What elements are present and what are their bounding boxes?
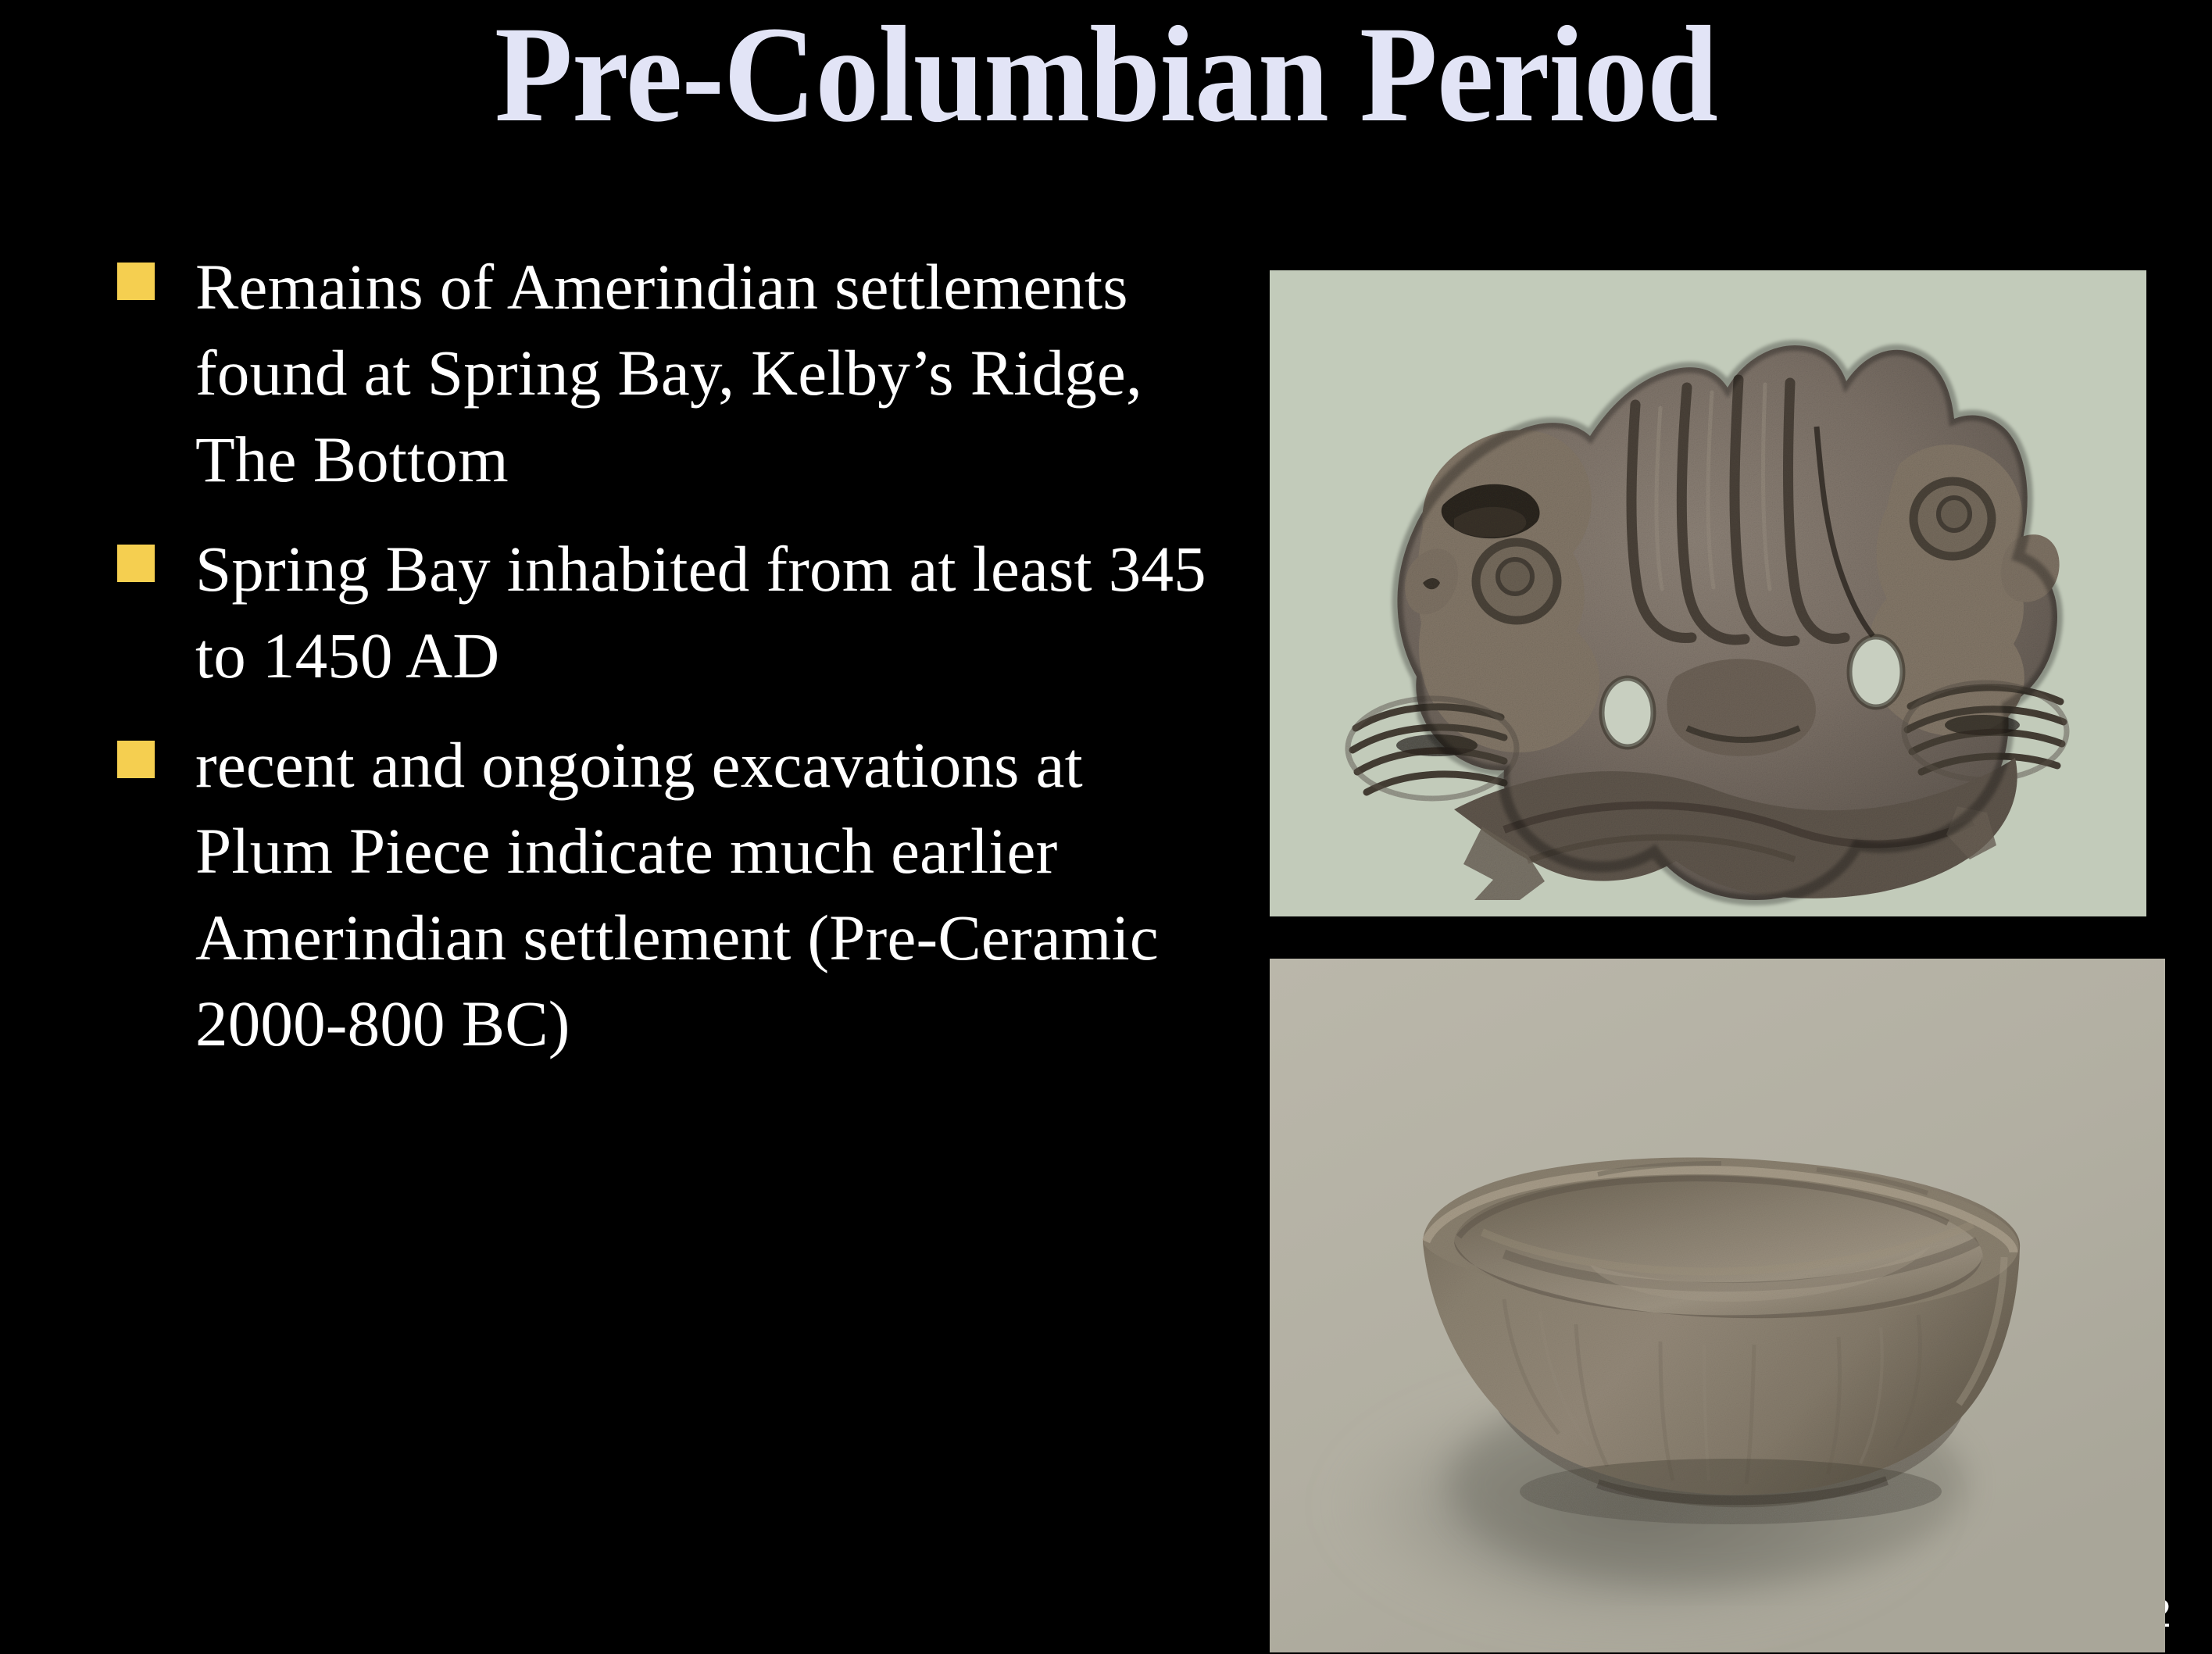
bullet-text: recent and ongoing excavations at Plum P… (195, 722, 1227, 1067)
square-bullet-icon (117, 741, 155, 778)
ceramic-adorno-artifact-photo (1270, 270, 2146, 916)
bullet-list: Remains of Amerindian settlements found … (117, 244, 1227, 1090)
square-bullet-icon (117, 263, 155, 300)
ceramic-bowl-photo (1270, 959, 2165, 1652)
square-bullet-icon (117, 545, 155, 582)
list-item: Spring Bay inhabited from at least 345 t… (117, 526, 1227, 698)
adorno-artifact-illustration (1270, 270, 2146, 916)
ceramic-bowl-illustration (1270, 959, 2165, 1652)
list-item: recent and ongoing excavations at Plum P… (117, 722, 1227, 1067)
list-item: Remains of Amerindian settlements found … (117, 244, 1227, 502)
presentation-slide: Pre-Columbian Period Remains of Amerindi… (0, 0, 2212, 1654)
bullet-text: Spring Bay inhabited from at least 345 t… (195, 526, 1227, 698)
page-title: Pre-Columbian Period (77, 6, 2135, 144)
bullet-text: Remains of Amerindian settlements found … (195, 244, 1227, 502)
